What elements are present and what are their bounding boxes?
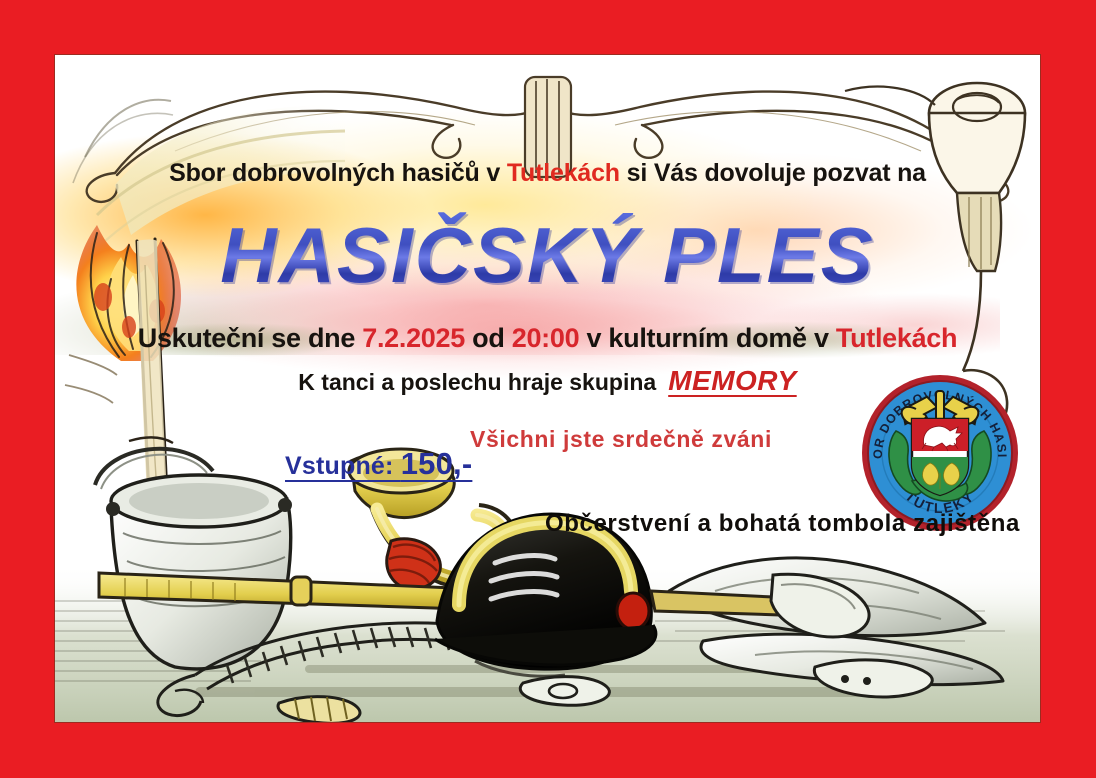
date-mid2: v kulturním domě v — [579, 323, 836, 353]
band-line: K tanci a poslechu hraje skupinaMEMORY — [55, 365, 1040, 397]
price-label: Vstupné: — [285, 452, 401, 480]
poster-sheet: SBOR DOBROVOLNÝCH HASIČŮ TUTLEKY 1941 — [55, 55, 1040, 722]
date-venue-line: Uskuteční se dne 7.2.2025 od 20:00 v kul… — [55, 323, 1040, 354]
event-time: 20:00 — [512, 323, 580, 353]
event-date: 7.2.2025 — [362, 323, 465, 353]
refreshments-line: Občerstvení a bohatá tombola zajištěna — [545, 510, 1020, 538]
invitation-suffix: si Vás dovoluje pozvat na — [620, 159, 926, 187]
invitation-line: Sbor dobrovolných hasičů v Tutlekách si … — [55, 159, 1040, 188]
welcome-line: Všichni jste srdečně zváni — [470, 426, 772, 453]
page-title: HASIČSKÝ PLES — [55, 210, 1040, 301]
venue-village: Tutlekách — [836, 323, 957, 353]
entry-price-line: Vstupné: 150,- — [285, 446, 472, 482]
date-mid1: od — [465, 323, 512, 353]
band-name: MEMORY — [668, 365, 797, 396]
date-prefix: Uskuteční se dne — [138, 323, 362, 353]
poster-text-layer: Sbor dobrovolných hasičů v Tutlekách si … — [55, 55, 1040, 722]
price-amount: 150,- — [401, 446, 473, 481]
invitation-village: Tutlekách — [507, 159, 620, 187]
poster-root: SBOR DOBROVOLNÝCH HASIČŮ TUTLEKY 1941 — [0, 0, 1096, 778]
band-label: K tanci a poslechu hraje skupina — [298, 369, 656, 395]
invitation-prefix: Sbor dobrovolných hasičů v — [169, 159, 507, 187]
